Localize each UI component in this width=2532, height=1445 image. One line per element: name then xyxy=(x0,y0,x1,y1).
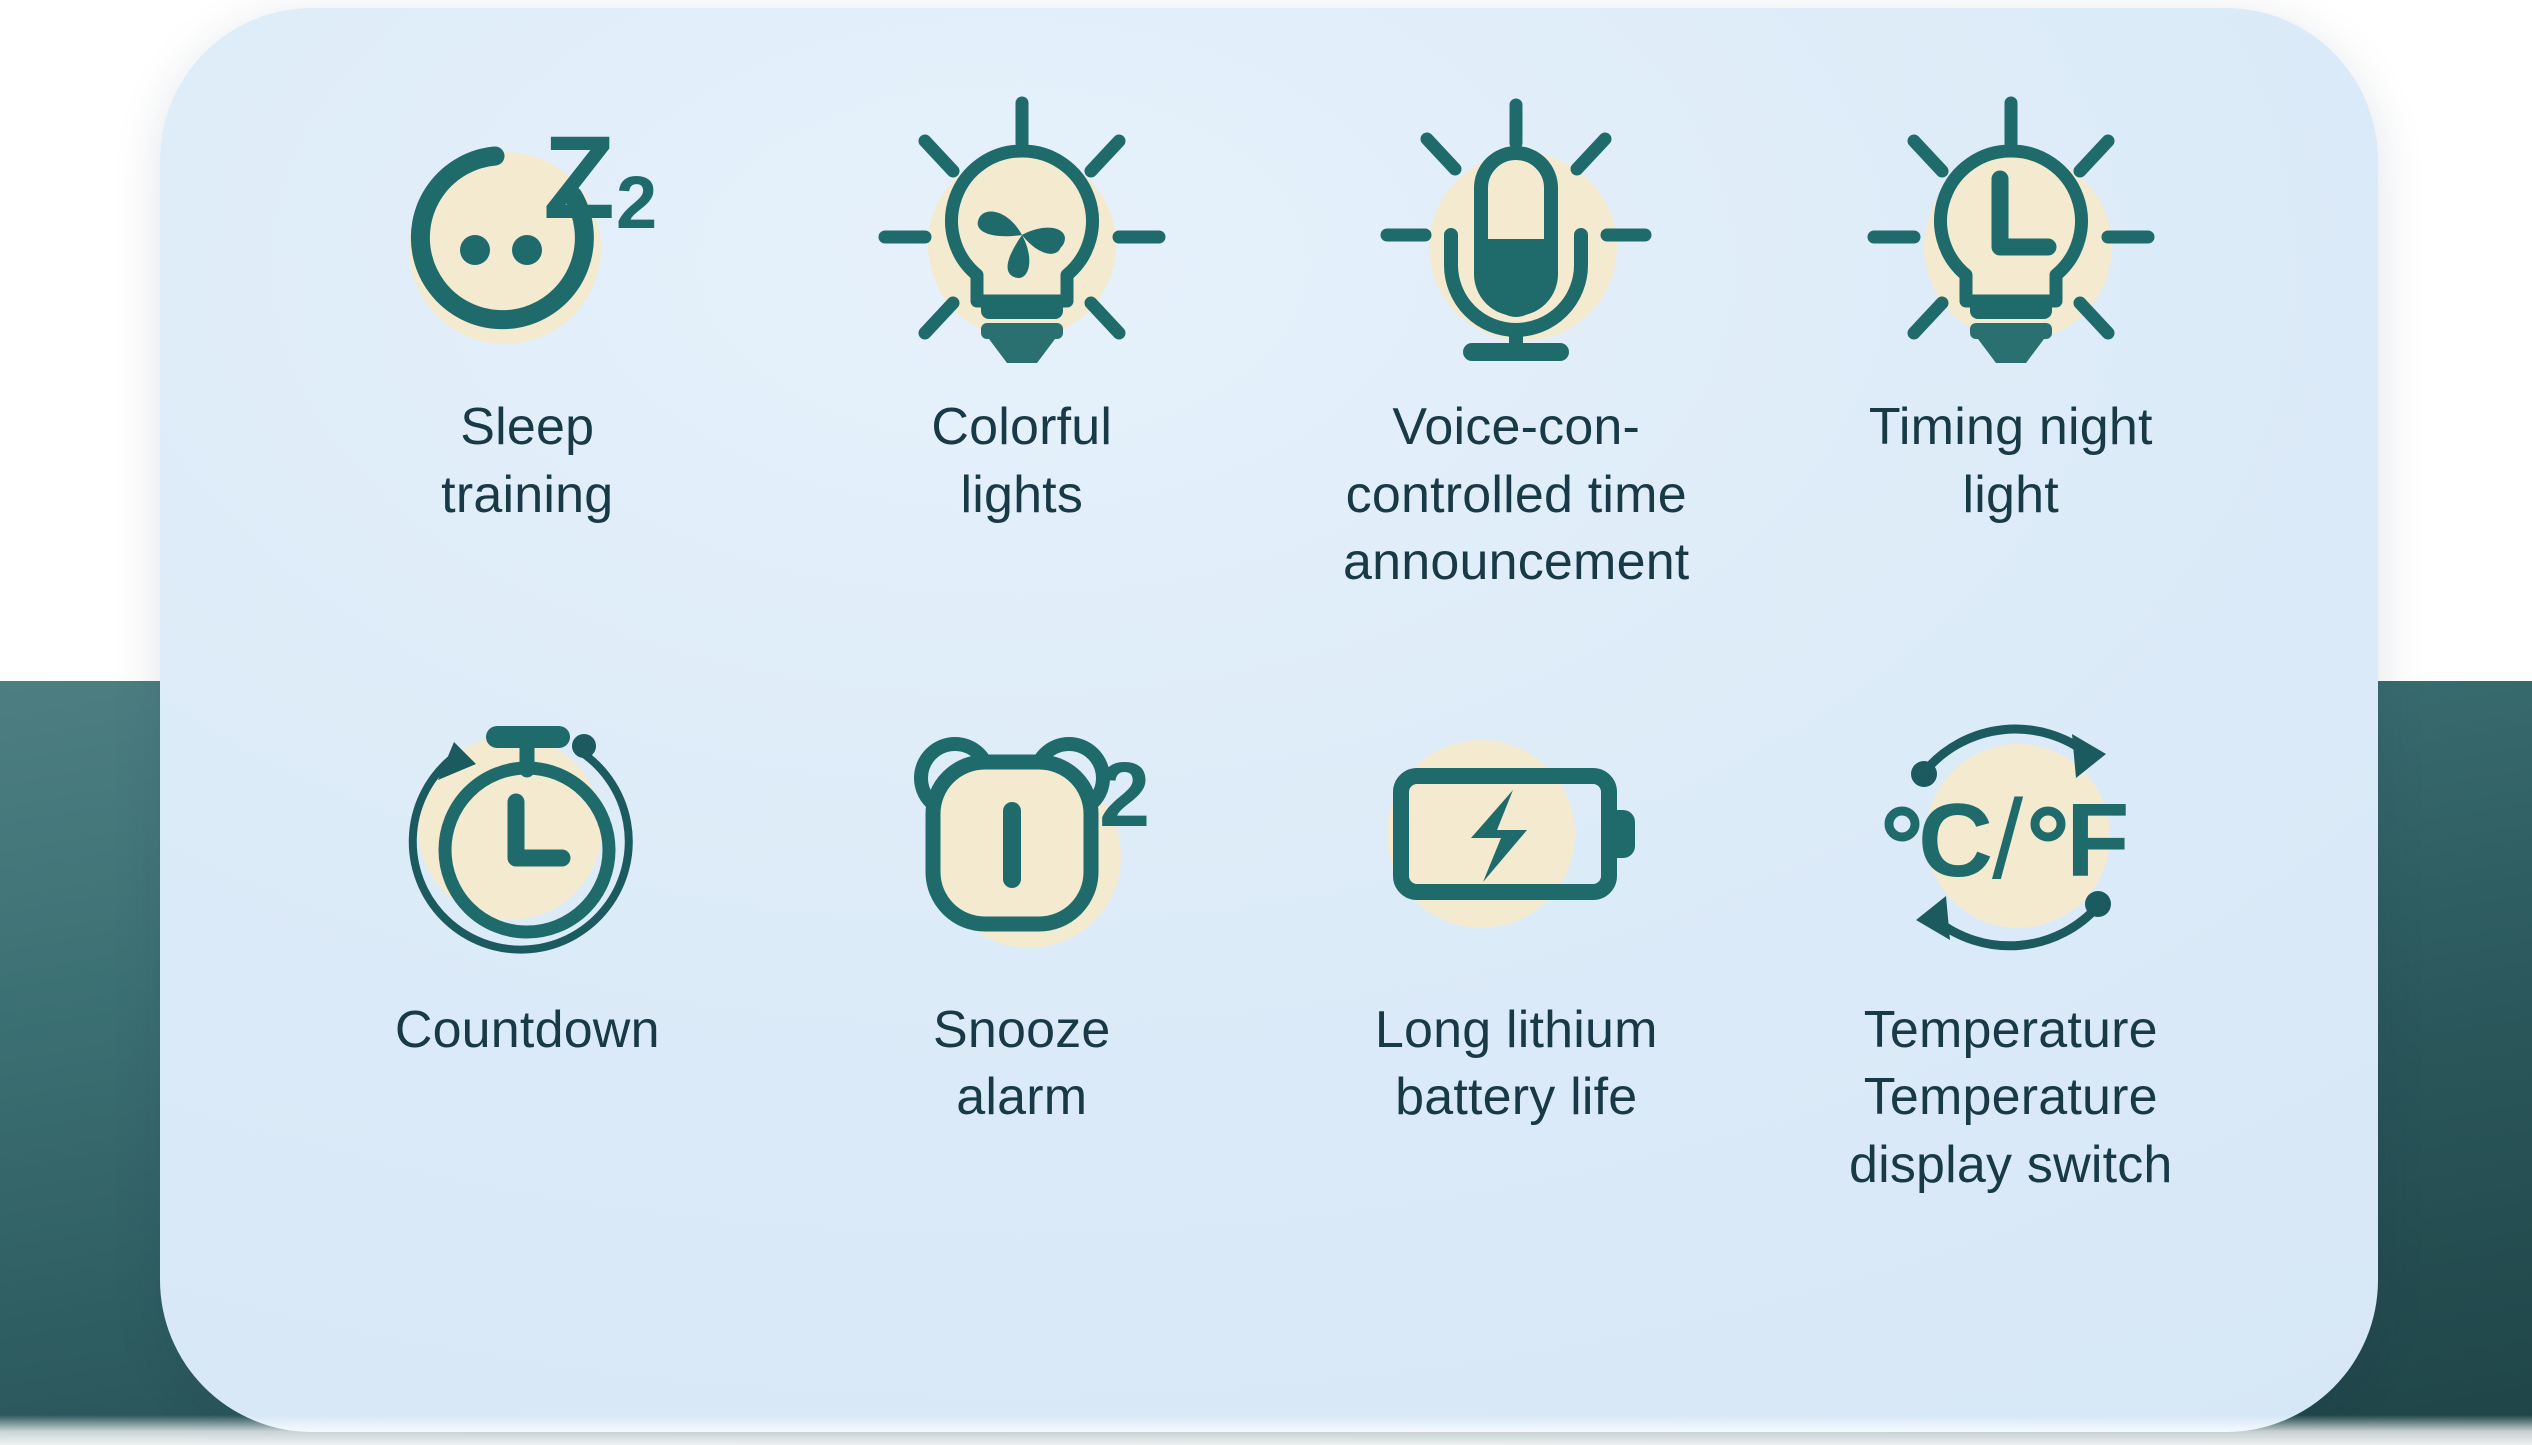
light-bulb-clock-icon xyxy=(1846,80,2176,380)
feature-label: Snooze alarm xyxy=(933,997,1111,1132)
svg-text:C: C xyxy=(1918,783,1993,899)
svg-text:2: 2 xyxy=(1099,744,1150,846)
feature-item-snooze-alarm[interactable]: 2 Snooze alarm xyxy=(775,683,1270,1200)
feature-item-voice-control[interactable]: Voice-con- controlled time announcement xyxy=(1269,80,1764,597)
svg-text:F: F xyxy=(2066,783,2130,899)
feature-label: Timing night light xyxy=(1869,394,2153,529)
feature-label: Sleep training xyxy=(441,394,613,529)
svg-text:/: / xyxy=(1992,777,2024,902)
svg-text:2: 2 xyxy=(616,161,657,244)
microphone-icon xyxy=(1351,80,1681,380)
feature-item-colorful-lights[interactable]: Colorful lights xyxy=(775,80,1270,597)
feature-item-sleep-training[interactable]: Z 2 Sleep training xyxy=(280,80,775,597)
feature-label: Colorful lights xyxy=(931,394,1112,529)
feature-label: Countdown xyxy=(395,997,660,1065)
feature-item-battery-life[interactable]: Long lithium battery life xyxy=(1269,683,1764,1200)
feature-grid: Z 2 Sleep training xyxy=(160,80,2378,1200)
feature-label: Temperature Temperature display switch xyxy=(1849,997,2173,1200)
alarm-clock-snooze-icon: 2 xyxy=(857,683,1187,983)
feature-item-temperature-unit[interactable]: C / F Temperature Temperature display sw… xyxy=(1764,683,2259,1200)
sleeping-face-z2-icon: Z 2 xyxy=(362,80,692,380)
watermark xyxy=(0,1415,2532,1445)
feature-item-countdown[interactable]: Countdown xyxy=(280,683,775,1200)
stopwatch-countdown-icon xyxy=(362,683,692,983)
feature-label: Voice-con- controlled time announcement xyxy=(1343,394,1689,597)
light-bulb-pinwheel-icon xyxy=(857,80,1187,380)
feature-item-timing-night-light[interactable]: Timing night light xyxy=(1764,80,2259,597)
feature-card: Z 2 Sleep training xyxy=(160,8,2378,1432)
battery-charging-icon xyxy=(1351,683,1681,983)
feature-label: Long lithium battery life xyxy=(1375,997,1658,1132)
celsius-fahrenheit-switch-icon: C / F xyxy=(1846,683,2176,983)
svg-text:Z: Z xyxy=(543,112,615,244)
